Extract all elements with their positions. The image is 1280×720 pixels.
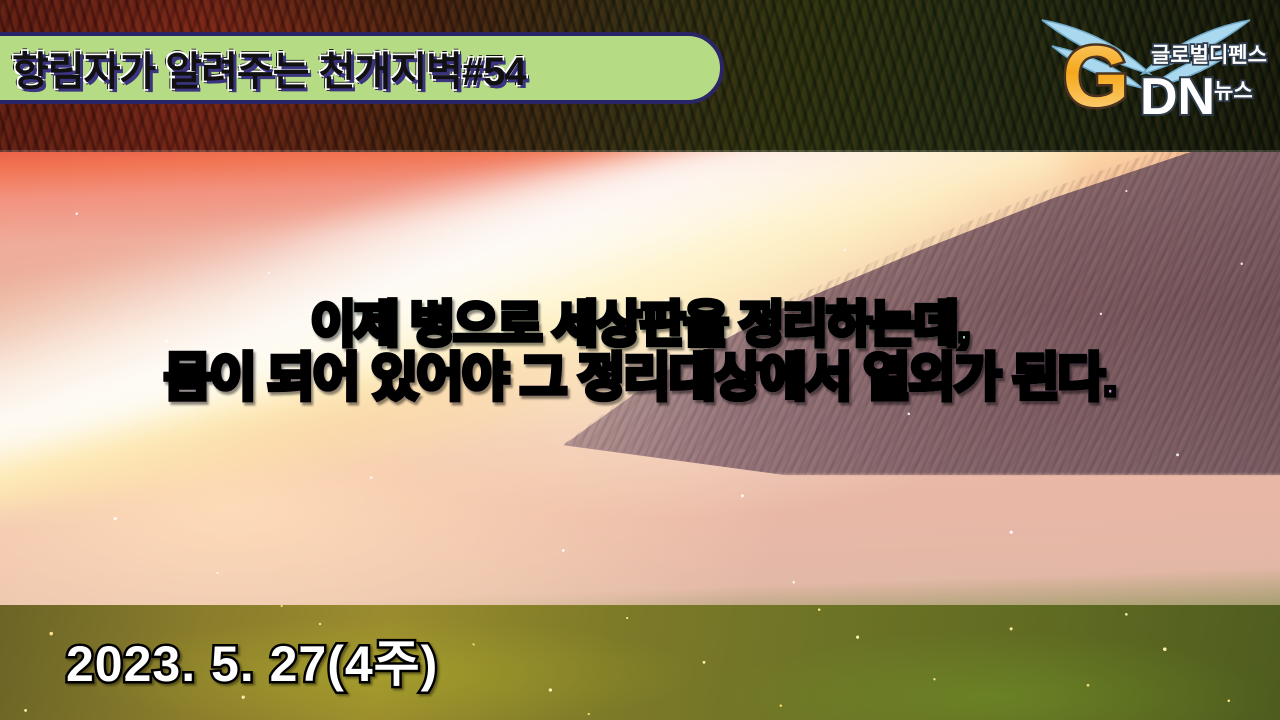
logo-letter-g: G (1063, 29, 1130, 125)
title-banner: 향림자가 알려주는 천개지벽#54 (0, 32, 724, 104)
title-banner-label: 향림자가 알려주는 천개지벽#54 (12, 39, 526, 97)
subtitle-line-2: 몸이 되어 있어야 그 정리대상에서 열외가 된다. (0, 351, 1280, 404)
logo-korean-top: 글로벌디펜스 (1151, 44, 1267, 67)
subtitle-line-1: 이제 병으로 세상판을 정리하는데, (0, 300, 1280, 351)
logo-letters-dn: DN (1140, 68, 1215, 126)
gdn-logo: G DN 글로벌디펜스 뉴스 (1018, 0, 1274, 136)
date-label: 2023. 5. 27(4주) (66, 624, 438, 696)
logo-korean-bottom: 뉴스 (1214, 80, 1253, 103)
subtitle-block: 이제 병으로 세상판을 정리하는데, 몸이 되어 있어야 그 정리대상에서 열외… (0, 300, 1280, 404)
video-frame: 향림자가 알려주는 천개지벽#54 G DN (0, 0, 1280, 720)
